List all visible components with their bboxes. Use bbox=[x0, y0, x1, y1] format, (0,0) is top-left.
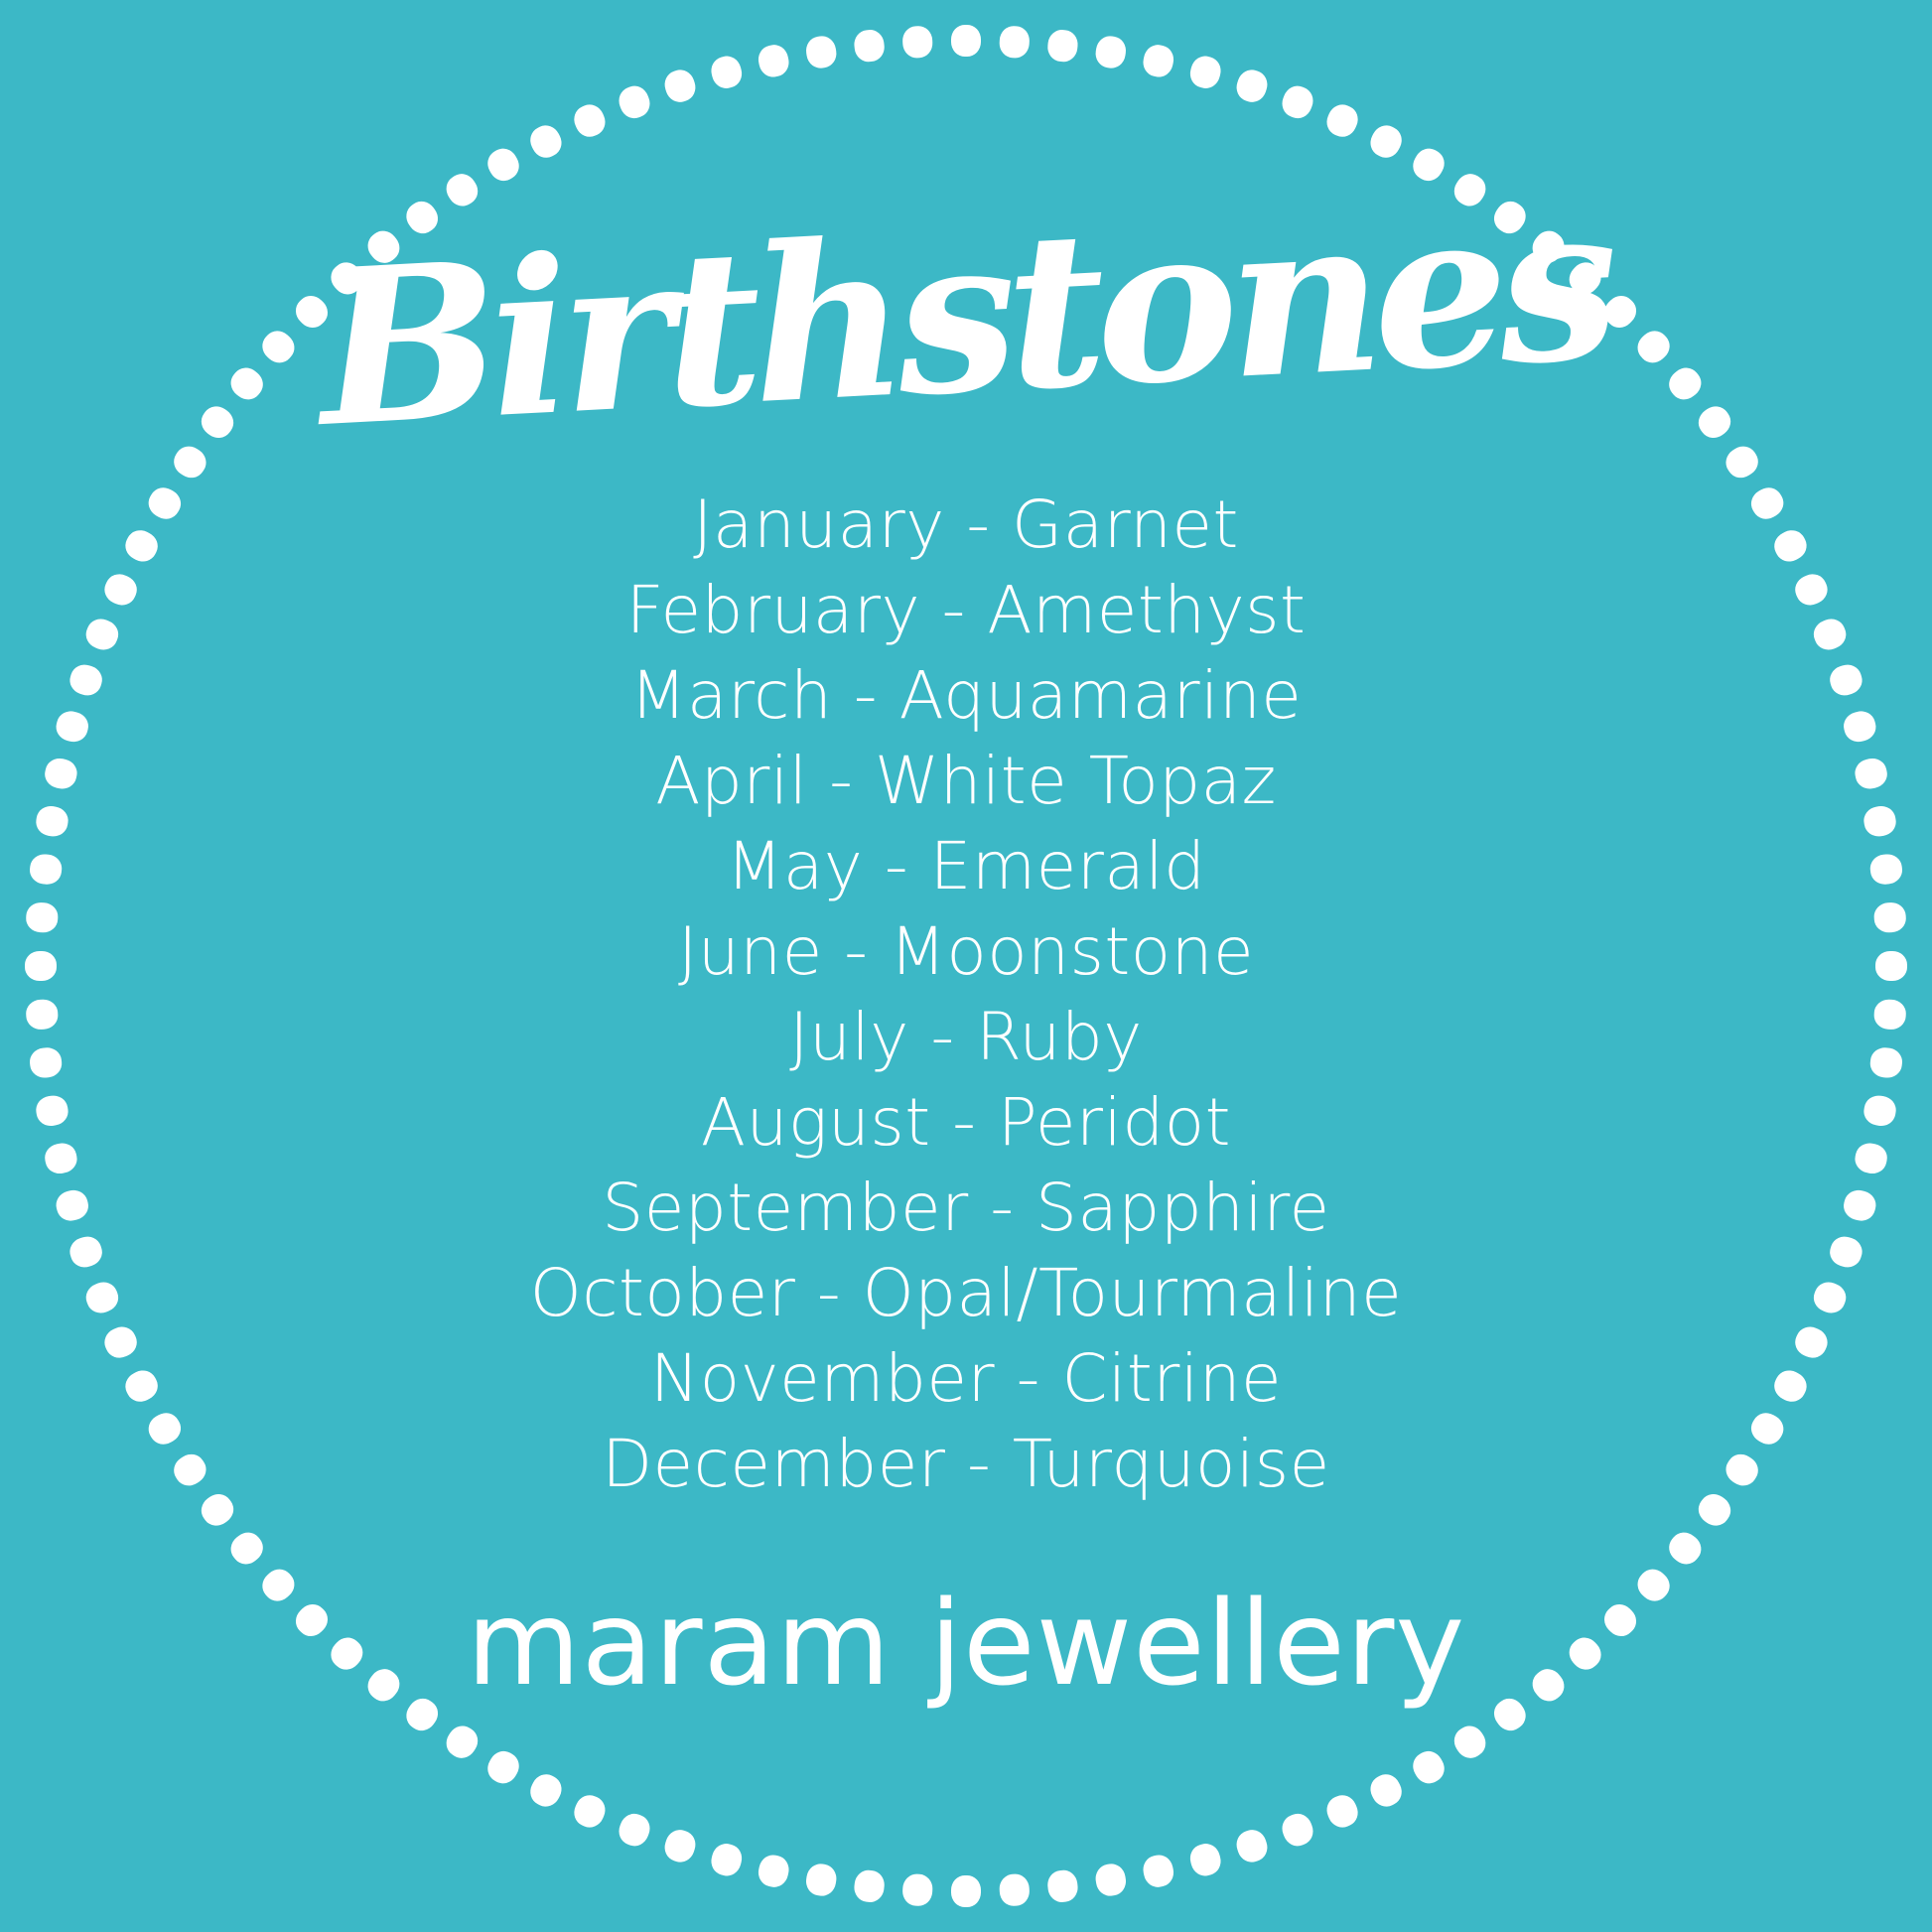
list-item: December - Turquoise bbox=[0, 1422, 1932, 1507]
list-item: July - Ruby bbox=[0, 995, 1932, 1080]
poster-content: Birthstones January - Garnet February - … bbox=[0, 0, 1932, 1932]
list-item: August - Peridot bbox=[0, 1080, 1932, 1166]
list-item: February - Amethyst bbox=[0, 568, 1932, 653]
list-item: April - White Topaz bbox=[0, 739, 1932, 824]
list-item: November - Citrine bbox=[0, 1336, 1932, 1422]
list-item: May - Emerald bbox=[0, 824, 1932, 909]
brand-name: maram jewellery bbox=[467, 1579, 1466, 1708]
page-title-text: Birthstones bbox=[307, 156, 1621, 475]
birthstone-list: January - Garnet February - Amethyst Mar… bbox=[0, 483, 1932, 1507]
list-item: September - Sapphire bbox=[0, 1166, 1932, 1251]
list-item: March - Aquamarine bbox=[0, 653, 1932, 739]
list-item: October - Opal/Tourmaline bbox=[0, 1251, 1932, 1336]
list-item: January - Garnet bbox=[0, 483, 1932, 568]
page-title: Birthstones bbox=[420, 167, 1512, 465]
list-item: June - Moonstone bbox=[0, 909, 1932, 995]
birthstones-poster: Birthstones January - Garnet February - … bbox=[0, 0, 1932, 1932]
